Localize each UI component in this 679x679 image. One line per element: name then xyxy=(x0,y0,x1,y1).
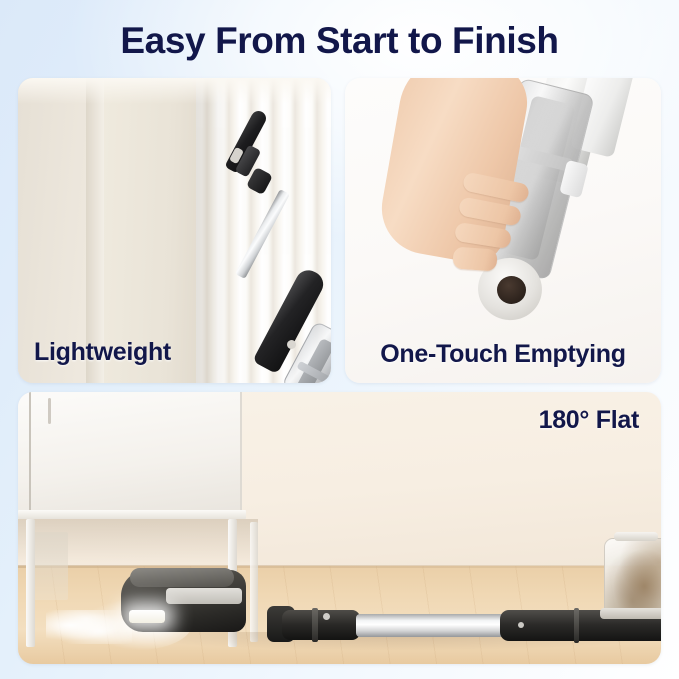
vacuum-body-seam xyxy=(574,608,579,643)
vacuum-release-button xyxy=(323,613,330,620)
cabinet-leg xyxy=(250,522,258,642)
panel-180-flat[interactable]: 180° Flat xyxy=(18,392,661,664)
vacuum-dust-cup xyxy=(604,538,661,616)
product-feature-poster: Easy From Start to Finish Lightweight xyxy=(0,0,679,679)
vacuum-wand xyxy=(356,614,504,637)
cabinet-inner-panel xyxy=(32,532,68,600)
cabinet-handle xyxy=(48,398,51,424)
panel-caption-lightweight: Lightweight xyxy=(34,338,171,367)
vacuum-illustration-dustcup xyxy=(345,78,661,338)
collected-dust xyxy=(605,539,661,615)
vacuum-cup-base xyxy=(600,608,661,619)
cabinet-body xyxy=(18,392,242,514)
page-title: Easy From Start to Finish xyxy=(0,22,679,59)
cabinet-leg xyxy=(26,519,35,647)
vacuum-cup-lid xyxy=(614,532,658,541)
vacuum-power-button xyxy=(518,622,524,628)
cabinet-door-seam xyxy=(29,392,31,514)
panel-caption-one-touch-emptying: One-Touch Emptying xyxy=(345,340,661,369)
vacuum-neck-ring xyxy=(312,608,318,642)
dust-debris xyxy=(46,610,132,644)
panel-one-touch-emptying[interactable]: One-Touch Emptying xyxy=(345,78,661,383)
vacuum-wand xyxy=(235,189,290,279)
vacuum-neck xyxy=(282,610,360,640)
vacuum-cup-opening xyxy=(497,276,526,304)
panel-lightweight[interactable]: Lightweight xyxy=(18,78,331,383)
vacuum-head-cover xyxy=(130,568,234,587)
vacuum-head-plate xyxy=(166,588,242,604)
led-headlight xyxy=(129,610,165,623)
cabinet-base-rail xyxy=(18,510,246,519)
wall-floor-junction xyxy=(18,565,661,568)
panel-caption-180-flat: 180° Flat xyxy=(539,406,639,435)
thumb xyxy=(452,246,497,271)
